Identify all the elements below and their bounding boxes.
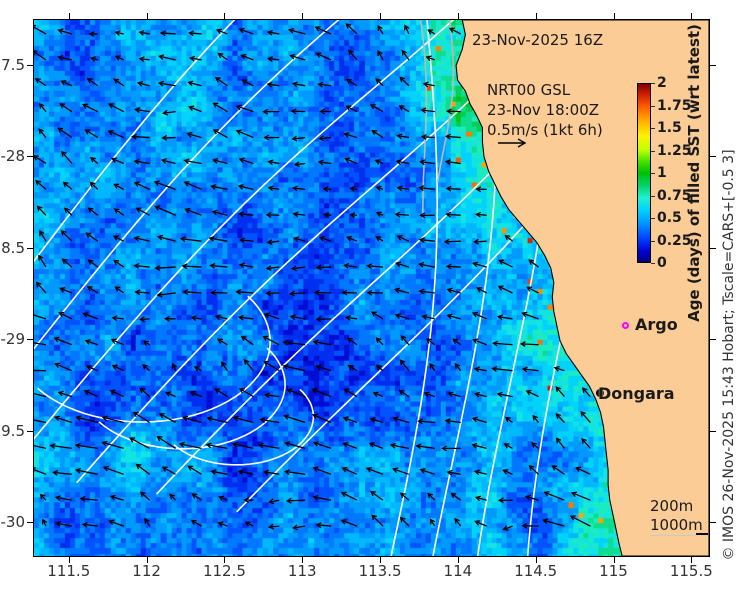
current-arrow [181, 237, 201, 242]
current-arrow [345, 158, 357, 163]
current-arrow [55, 337, 72, 344]
current-arrow [140, 57, 150, 62]
current-arrow [91, 57, 98, 62]
current-arrow [140, 31, 150, 36]
current-arrow [239, 185, 253, 190]
y-axis-label: -30 [1, 513, 26, 531]
current-arrow [43, 520, 47, 526]
current-arrow [259, 443, 279, 448]
y-tick-right [710, 65, 716, 66]
current-arrow [34, 468, 46, 474]
depth-1000m-line-sample [696, 533, 708, 535]
current-arrow [455, 519, 461, 526]
argo-float-marker[interactable] [622, 322, 629, 329]
current-arrow [348, 338, 357, 345]
colorbar-tick-label: 2 [657, 75, 667, 91]
current-arrow [159, 81, 175, 86]
colorbar [637, 83, 651, 263]
current-arrow [89, 260, 98, 267]
current-arrow [185, 208, 201, 215]
argo-label: Argo [635, 315, 678, 334]
current-arrow [208, 417, 228, 423]
current-arrow [40, 231, 46, 241]
depth-legend: 200m 1000m [650, 496, 703, 534]
current-arrow [291, 315, 305, 320]
current-arrow [344, 263, 357, 268]
current-arrow [292, 266, 305, 271]
current-arrow [312, 389, 331, 397]
colorbar-tick [651, 83, 655, 84]
current-arrow [395, 288, 409, 293]
current-arrow [162, 159, 175, 164]
current-arrow [239, 315, 253, 320]
x-axis-label: 115.5 [670, 562, 713, 580]
depth-200m-label: 200m [650, 497, 693, 515]
current-arrow [527, 391, 539, 397]
current-arrow [34, 417, 46, 423]
current-arrow [51, 444, 72, 449]
x-axis-label: 111.5 [47, 562, 90, 580]
current-arrow [556, 414, 564, 422]
current-arrow [113, 316, 124, 321]
current-arrow [141, 492, 150, 500]
x-tick-top [458, 13, 459, 19]
current-arrow [533, 416, 538, 423]
current-arrow [371, 105, 383, 112]
current-arrow [114, 184, 123, 189]
current-arrow [34, 442, 46, 448]
colorbar-tick-label: 1 [657, 165, 667, 181]
current-arrow [88, 79, 98, 86]
current-source-label: NRT00 GSL [487, 81, 570, 99]
current-arrow [89, 208, 98, 215]
current-arrow [239, 470, 253, 475]
current-arrow [61, 81, 71, 86]
current-arrow [132, 134, 149, 139]
current-arrow [293, 82, 305, 87]
current-arrow [324, 187, 331, 192]
colorbar-tick [651, 106, 655, 107]
current-arrow [372, 515, 383, 526]
current-arrow [526, 495, 538, 500]
current-arrow [193, 494, 202, 500]
current-arrow [545, 492, 565, 501]
current-arrow [425, 392, 435, 396]
current-arrow [83, 523, 98, 528]
current-arrow [109, 104, 124, 112]
current-arrow [36, 79, 46, 86]
current-arrow [401, 518, 409, 526]
current-arrow [240, 28, 254, 34]
current-arrow [446, 134, 460, 139]
x-axis-label: 112 [132, 562, 161, 580]
current-arrow [474, 239, 486, 244]
current-arrow [116, 56, 124, 60]
current-arrow [91, 158, 98, 164]
colorbar-tick-label: 0 [657, 255, 667, 271]
current-arrow [143, 365, 150, 371]
current-arrow [246, 522, 253, 526]
current-arrow [268, 30, 279, 35]
current-arrow [343, 468, 357, 475]
timestamp-label: 23-Nov-2025 16Z [472, 31, 603, 49]
contour-line [34, 20, 457, 483]
colorbar-tick [651, 196, 655, 197]
current-arrow [268, 57, 279, 62]
current-arrow [90, 32, 98, 37]
current-arrow [234, 416, 253, 422]
x-axis-label: 113 [288, 562, 317, 580]
current-arrow [222, 362, 228, 370]
current-arrow [62, 152, 72, 164]
current-arrow [371, 492, 383, 501]
colorbar-gradient [637, 83, 651, 263]
current-arrow [401, 360, 409, 370]
current-arrow [145, 519, 149, 526]
current-arrow [314, 495, 331, 500]
current-arrow [219, 496, 227, 500]
current-arrow [140, 317, 149, 322]
current-arrow [405, 26, 409, 34]
colorbar-tick [651, 218, 655, 219]
dongara-label: Dongara [598, 384, 675, 403]
current-arrow [138, 82, 149, 87]
current-arrow [212, 470, 228, 475]
current-arrow [427, 339, 435, 345]
current-arrow [543, 519, 564, 526]
current-arrow [165, 316, 175, 321]
current-arrow [38, 207, 46, 216]
current-arrow [111, 495, 124, 500]
current-arrow [34, 26, 46, 34]
colorbar-tick [651, 241, 655, 242]
current-arrow [161, 31, 175, 36]
current-arrow [421, 469, 435, 475]
x-tick-top [536, 13, 537, 19]
current-arrow [265, 313, 279, 319]
current-arrow [504, 526, 513, 530]
current-arrow [159, 55, 175, 60]
colorbar-tick [651, 151, 655, 152]
current-arrow [294, 237, 305, 242]
current-arrow [505, 444, 513, 448]
current-arrow [104, 467, 124, 475]
current-arrow [64, 182, 72, 189]
current-arrow [39, 256, 46, 267]
depth-200m-line-sample [650, 535, 696, 536]
current-arrow [571, 516, 590, 526]
current-arrow [240, 389, 253, 397]
current-arrow [55, 416, 72, 422]
y-tick-right [710, 339, 716, 340]
current-arrow [189, 106, 201, 111]
current-arrow [219, 522, 228, 526]
current-arrow [40, 104, 46, 112]
x-axis-label: 114.5 [514, 562, 557, 580]
current-arrow [56, 522, 72, 527]
credit-attribution: © IMOS 26-Nov-2025 15:43 Hobart; Tscale=… [721, 149, 737, 560]
y-tick [27, 522, 33, 523]
current-arrow [378, 51, 383, 60]
current-arrow [455, 364, 460, 371]
current-arrow [116, 31, 124, 36]
current-arrow [368, 264, 383, 269]
current-arrow [158, 235, 175, 241]
current-arrow [59, 313, 72, 319]
current-arrow [451, 494, 460, 501]
current-arrow [378, 26, 383, 34]
current-arrow [447, 212, 461, 217]
current-arrow [372, 312, 383, 319]
current-arrow [284, 340, 306, 345]
current-arrow [216, 78, 227, 86]
x-tick-top [224, 13, 225, 19]
current-arrow [136, 290, 150, 295]
contour-line [391, 20, 437, 556]
current-arrow [62, 231, 72, 241]
current-arrow [447, 264, 461, 269]
current-arrow [345, 133, 357, 138]
current-arrow [285, 470, 305, 475]
current-arrow [134, 413, 150, 423]
current-arrow [211, 185, 227, 190]
colorbar-tick [651, 263, 655, 264]
y-tick-right [710, 248, 716, 249]
current-arrow [447, 186, 461, 191]
current-arrow [347, 236, 357, 241]
current-arrow [446, 419, 461, 424]
current-arrow [269, 160, 280, 165]
current-arrow [351, 213, 357, 218]
current-arrow [34, 156, 46, 164]
x-tick-top [69, 13, 70, 19]
current-arrow [442, 446, 460, 451]
current-arrow [195, 367, 201, 371]
current-arrow [377, 212, 383, 216]
current-arrow [86, 340, 98, 345]
current-arrow [58, 128, 72, 137]
current-arrow [344, 417, 357, 423]
current-arrow [144, 341, 149, 345]
current-arrow [183, 416, 201, 422]
current-arrow [367, 468, 383, 475]
current-arrow [581, 412, 590, 423]
y-axis-label: -29.5 [0, 422, 25, 440]
current-arrow [243, 80, 254, 86]
current-arrow [576, 467, 590, 474]
current-arrow [39, 129, 46, 137]
colorbar-tick [651, 128, 655, 129]
current-arrow [314, 442, 331, 449]
current-arrow [523, 312, 539, 319]
contour-line [38, 296, 270, 422]
current-arrow [59, 29, 72, 34]
current-arrow [36, 181, 46, 190]
current-arrow [218, 54, 227, 60]
current-arrow [239, 212, 253, 217]
map-plot-area [33, 19, 710, 557]
current-arrow [293, 186, 305, 191]
current-arrow [422, 108, 435, 113]
current-arrow [264, 109, 280, 114]
current-arrow [140, 388, 149, 396]
current-arrow [317, 265, 331, 270]
current-arrow [374, 392, 383, 396]
current-arrow [428, 494, 435, 501]
current-arrow [448, 288, 461, 293]
current-arrow [211, 263, 228, 268]
current-arrow [215, 389, 227, 397]
current-arrow [91, 182, 98, 189]
current-arrow [292, 109, 305, 114]
colorbar-tick [651, 173, 655, 174]
y-tick [27, 156, 33, 157]
current-arrow [88, 287, 98, 293]
current-arrow [136, 464, 149, 474]
current-arrow [55, 363, 72, 370]
current-arrow [346, 24, 357, 34]
current-arrow [265, 393, 279, 398]
current-arrow [85, 390, 98, 396]
current-arrow [344, 443, 357, 449]
x-axis-label: 115 [599, 562, 628, 580]
current-arrow [284, 415, 305, 423]
current-arrow [214, 130, 228, 138]
y-tick-right [710, 156, 716, 157]
current-arrow [477, 187, 487, 192]
current-arrow [155, 206, 175, 215]
current-arrow [218, 339, 227, 344]
current-arrow [320, 136, 332, 141]
current-arrow [269, 186, 279, 191]
current-arrow [473, 417, 487, 422]
current-arrow [60, 104, 72, 112]
current-arrow [371, 418, 383, 423]
current-arrow [81, 497, 98, 502]
depth-1000m-label: 1000m [650, 516, 703, 534]
y-axis-label: -28 [1, 147, 26, 165]
current-arrow [112, 158, 124, 163]
current-arrow [188, 132, 202, 137]
current-arrow [555, 367, 564, 372]
current-arrow [428, 30, 434, 34]
current-arrow [372, 131, 383, 138]
y-axis-label: -27.5 [0, 56, 25, 74]
current-arrow [324, 213, 331, 218]
colorbar-title: Age (days) of filled SST (wrt latest) [685, 24, 703, 322]
current-arrow [294, 212, 305, 217]
current-arrow [293, 525, 305, 530]
current-arrow [34, 51, 46, 60]
current-arrow [242, 337, 254, 345]
current-arrow [493, 341, 512, 346]
x-axis-label: 114 [444, 562, 473, 580]
current-arrow [172, 364, 176, 371]
current-arrow [400, 106, 409, 112]
current-arrow [342, 492, 357, 500]
current-arrow [419, 262, 434, 267]
current-arrow [319, 160, 331, 165]
current-arrow [76, 443, 98, 448]
x-axis-label: 113.5 [359, 562, 402, 580]
current-arrow [476, 212, 486, 217]
current-arrow [59, 391, 72, 396]
current-arrow [295, 162, 305, 167]
current-arrow [111, 390, 124, 396]
current-arrow [63, 259, 72, 267]
current-arrow [344, 389, 357, 396]
current-arrow [349, 366, 357, 371]
current-arrow [289, 29, 305, 34]
current-arrow [445, 239, 461, 244]
current-arrow [53, 471, 71, 476]
current-arrow [376, 237, 382, 241]
current-arrow [37, 283, 46, 293]
current-arrow [343, 290, 357, 295]
current-arrow [582, 439, 590, 448]
x-axis-label: 112.5 [203, 562, 246, 580]
current-arrow [417, 444, 435, 449]
current-arrow [342, 520, 357, 526]
current-arrow [421, 213, 435, 218]
current-arrow [269, 524, 279, 529]
current-arrow [270, 499, 280, 504]
current-arrow [34, 368, 46, 373]
current-arrow [396, 314, 409, 319]
current-arrow [237, 290, 254, 295]
current-arrow [135, 159, 150, 164]
current-arrow [267, 212, 279, 217]
current-arrow [572, 492, 590, 500]
current-arrow [263, 336, 279, 344]
current-arrow [212, 290, 228, 295]
y-tick-right [710, 431, 716, 432]
current-arrow [216, 315, 227, 320]
current-arrow [498, 315, 512, 320]
current-arrow [376, 338, 382, 345]
current-arrow [368, 290, 383, 295]
current-arrow [394, 417, 409, 422]
current-arrow [83, 104, 98, 111]
current-arrow [314, 340, 331, 345]
current-arrow [400, 390, 409, 396]
x-tick-top [691, 13, 692, 19]
current-arrow [398, 134, 409, 139]
current-arrow [213, 103, 227, 111]
current-arrow [419, 186, 434, 191]
y-tick-right [710, 522, 716, 523]
current-arrow [135, 108, 149, 113]
current-arrow [400, 77, 409, 85]
current-arrow [557, 438, 565, 448]
y-axis-label: -29 [1, 330, 26, 348]
current-arrow [34, 312, 46, 318]
current-arrow [135, 182, 150, 189]
current-arrow [60, 288, 71, 293]
current-arrow [521, 342, 538, 347]
current-arrow [293, 136, 306, 141]
current-arrow [376, 160, 383, 164]
current-arrow [233, 442, 253, 448]
current-arrow [163, 135, 176, 140]
y-tick [27, 339, 33, 340]
current-arrow [431, 520, 435, 527]
current-arrow [493, 367, 513, 372]
y-tick [27, 431, 33, 432]
x-tick-top [614, 13, 615, 19]
current-arrow [420, 160, 434, 165]
current-arrow [185, 182, 202, 190]
